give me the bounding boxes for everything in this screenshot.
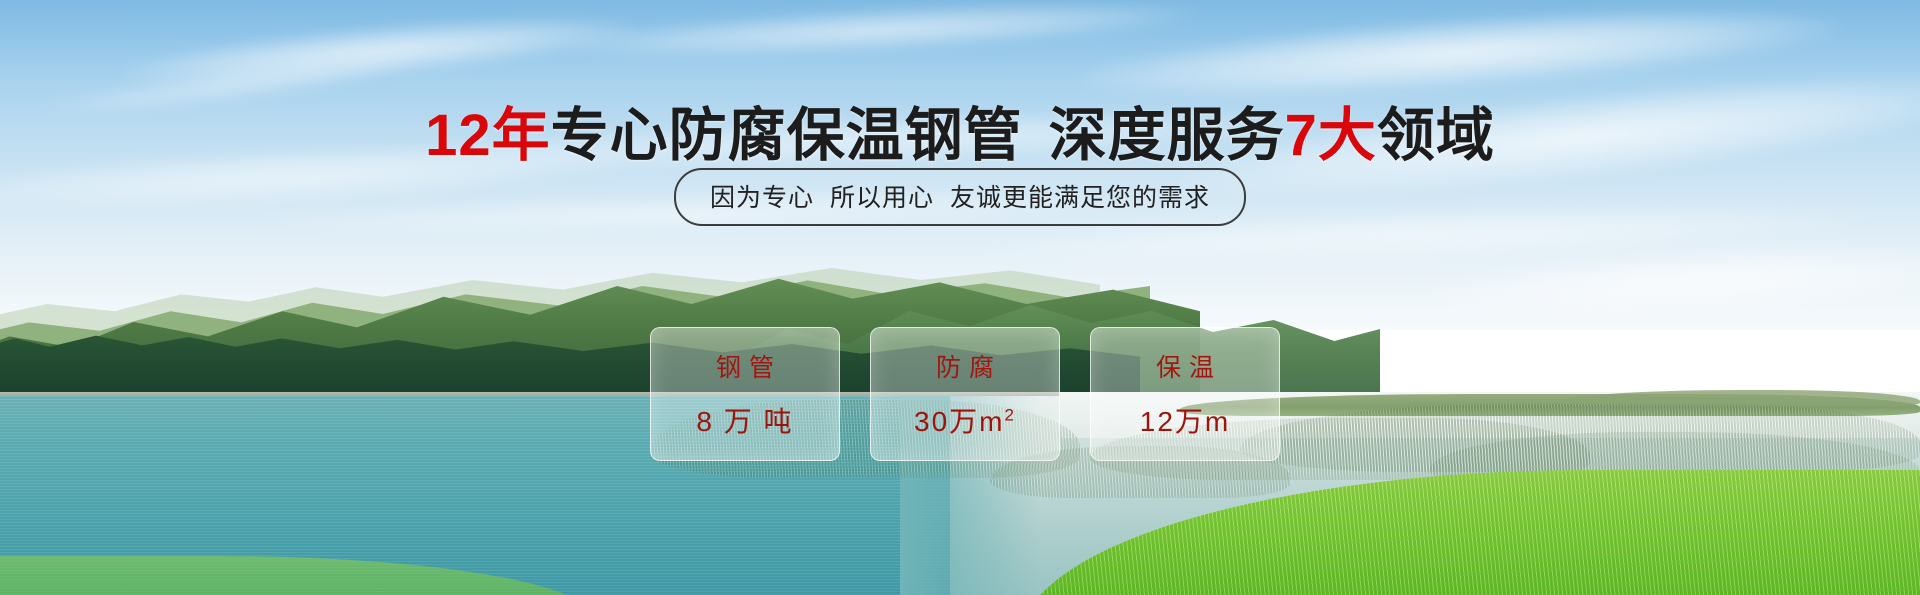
subtitle-segment-2: 所以用心 (830, 184, 934, 212)
subtitle-segment-1: 因为专心 (710, 184, 814, 212)
stat-card-insulation[interactable]: 保温 12万m (1090, 327, 1280, 461)
headline-main-text: 专心防腐保温钢管 (551, 103, 1023, 168)
stat-card-anticorrosion[interactable]: 防腐 30万m2 (870, 327, 1060, 461)
stat-card-value: 8 万 吨 (696, 400, 793, 440)
headline-service-text: 深度服务 (1049, 103, 1285, 168)
stat-value-main: 8 万 吨 (696, 406, 793, 437)
stat-card-title: 保温 (1148, 348, 1222, 384)
subtitle-container: 因为专心所以用心友诚更能满足您的需求 (0, 168, 1920, 226)
headline-accent-years: 12年 (425, 103, 551, 168)
stat-card-steel-pipe[interactable]: 钢管 8 万 吨 (650, 327, 840, 461)
stat-card-value: 12万m (1140, 400, 1230, 440)
stat-card-title: 钢管 (708, 348, 782, 384)
stat-card-value: 30万m2 (914, 400, 1016, 440)
headline-accent-seven: 7大 (1285, 103, 1377, 168)
banner-content: 12年专心防腐保温钢管深度服务7大领域 因为专心所以用心友诚更能满足您的需求 钢… (0, 0, 1920, 595)
stat-card-title: 防腐 (928, 348, 1002, 384)
stat-value-superscript: 2 (1005, 406, 1016, 425)
stat-card-group: 钢管 8 万 吨 防腐 30万m2 保温 12万m (650, 327, 1280, 461)
promo-banner: 12年专心防腐保温钢管深度服务7大领域 因为专心所以用心友诚更能满足您的需求 钢… (0, 0, 1920, 595)
subtitle-segment-3: 友诚更能满足您的需求 (950, 184, 1210, 212)
stat-value-main: 30万m (914, 406, 1004, 437)
subtitle-pill: 因为专心所以用心友诚更能满足您的需求 (674, 168, 1246, 226)
stat-value-main: 12万m (1140, 406, 1230, 437)
headline: 12年专心防腐保温钢管深度服务7大领域 (0, 88, 1920, 172)
headline-fields-text: 领域 (1377, 103, 1495, 168)
